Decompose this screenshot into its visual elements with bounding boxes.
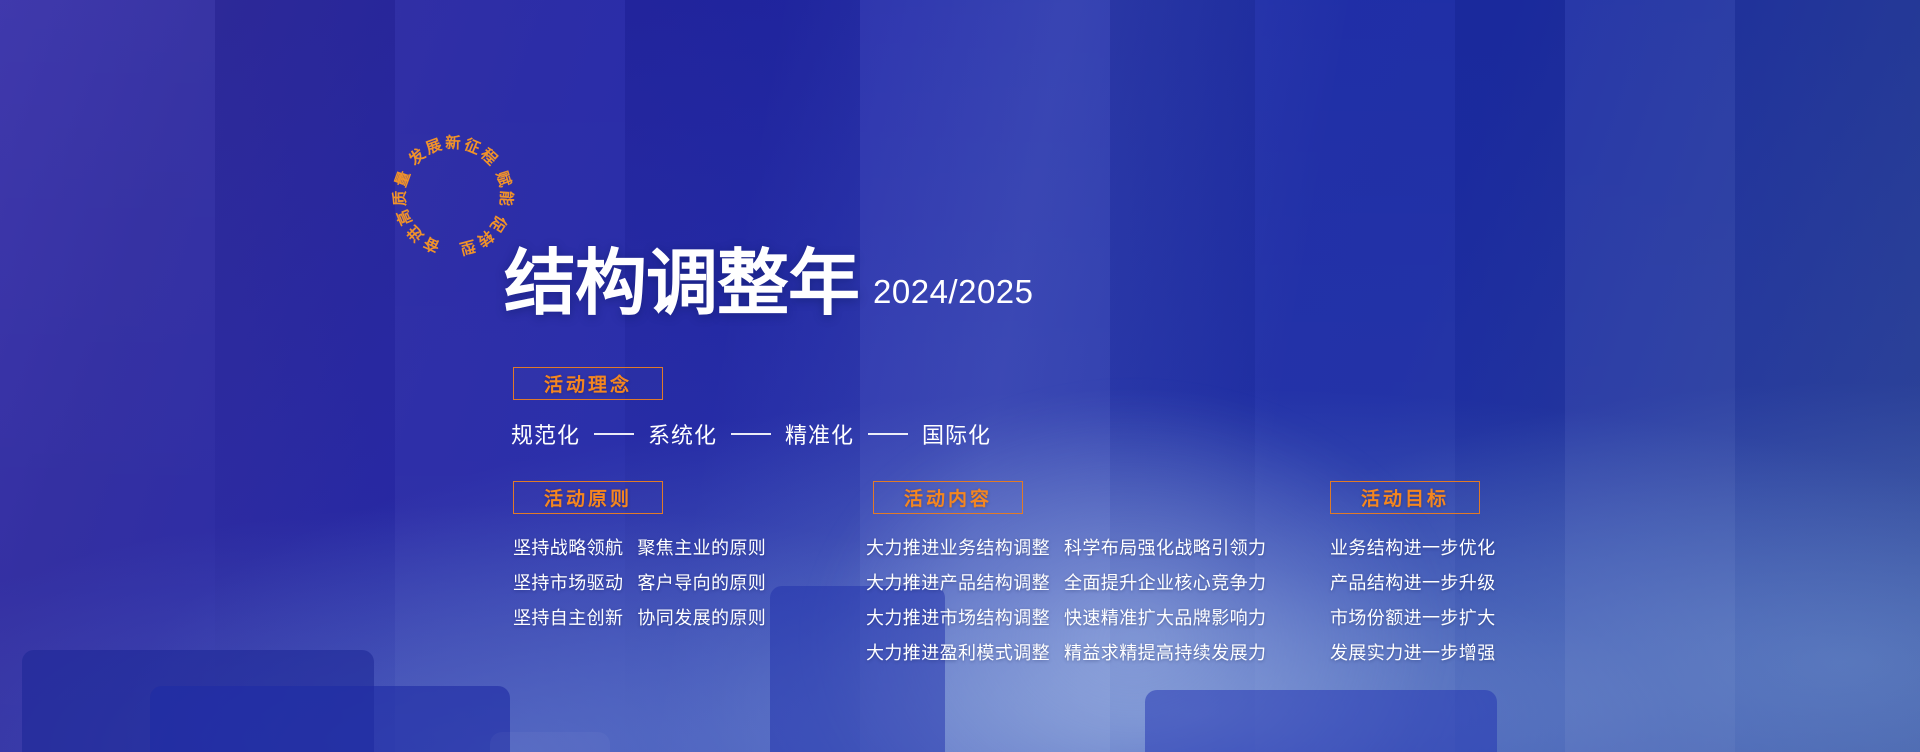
list-item: 产品结构进一步升级 [1330,569,1496,595]
list-item-part-a: 发展实力进一步增强 [1330,639,1496,665]
list-item: 发展实力进一步增强 [1330,639,1496,665]
list-item: 大力推进业务结构调整 科学布局强化战略引领力 [866,534,1266,560]
background-band [1565,0,1735,752]
badge-activity-goal[interactable]: 活动目标 [1330,481,1480,514]
idea-keyword: 规范化 [511,418,580,450]
list-item: 坚持市场驱动 客户导向的原则 [513,569,766,595]
background-band [0,0,215,752]
badge-activity-idea[interactable]: 活动理念 [513,367,663,400]
list-item-part-a: 产品结构进一步升级 [1330,569,1496,595]
idea-separator-dash [594,433,634,435]
list-item-part-b: 精益求精提高持续发展力 [1064,639,1266,665]
list-item-part-b: 聚焦主业的原则 [637,534,766,560]
page-title: 结构调整年 [504,247,859,319]
list-item-part-a: 大力推进盈利模式调整 [866,639,1050,665]
list-item-part-a: 坚持自主创新 [513,604,623,630]
idea-keyword: 系统化 [648,418,717,450]
title-block: 结构调整年 2024/2025 [504,247,1034,319]
background-band [1735,0,1920,752]
idea-separator-dash [731,433,771,435]
badge-activity-principle[interactable]: 活动原则 [513,481,663,514]
list-item: 大力推进市场结构调整 快速精准扩大品牌影响力 [866,604,1266,630]
list-item-part-a: 大力推进产品结构调整 [866,569,1050,595]
column-content: 大力推进业务结构调整 科学布局强化战略引领力 大力推进产品结构调整 全面提升企业… [866,534,1266,674]
circular-slogan-ring: 奋进高质量 发展新征程 赋能 促转型 增动能 [400,143,506,249]
list-item-part-a: 市场份额进一步扩大 [1330,604,1496,630]
building-block [150,686,510,752]
list-item: 坚持自主创新 协同发展的原则 [513,604,766,630]
badge-activity-content[interactable]: 活动内容 [873,481,1023,514]
column-principle: 坚持战略领航 聚焦主业的原则 坚持市场驱动 客户导向的原则 坚持自主创新 协同发… [513,534,766,639]
building-block [490,732,610,752]
building-block [1145,690,1497,752]
center-glow [691,301,1574,752]
list-item-part-b: 协同发展的原则 [637,604,766,630]
list-item-part-b: 客户导向的原则 [637,569,766,595]
column-goal: 业务结构进一步优化 产品结构进一步升级 市场份额进一步扩大 发展实力进一步增强 [1330,534,1496,674]
list-item-part-b: 快速精准扩大品牌影响力 [1064,604,1266,630]
list-item-part-a: 业务结构进一步优化 [1330,534,1496,560]
list-item-part-a: 大力推进市场结构调整 [866,604,1050,630]
list-item-part-b: 全面提升企业核心竞争力 [1064,569,1266,595]
idea-separator-dash [868,433,908,435]
list-item: 坚持战略领航 聚焦主业的原则 [513,534,766,560]
list-item: 大力推进产品结构调整 全面提升企业核心竞争力 [866,569,1266,595]
idea-keyword: 国际化 [922,418,991,450]
promo-banner: 奋进高质量 发展新征程 赋能 促转型 增动能 结构调整年 2024/2025 活… [0,0,1920,752]
year-range: 2024/2025 [873,273,1034,319]
list-item-part-a: 坚持市场驱动 [513,569,623,595]
list-item: 业务结构进一步优化 [1330,534,1496,560]
idea-keyword-line: 规范化 系统化 精准化 国际化 [511,418,991,450]
building-block [22,650,374,752]
list-item: 市场份额进一步扩大 [1330,604,1496,630]
list-item-part-a: 坚持战略领航 [513,534,623,560]
list-item-part-b: 科学布局强化战略引领力 [1064,534,1266,560]
idea-keyword: 精准化 [785,418,854,450]
list-item: 大力推进盈利模式调整 精益求精提高持续发展力 [866,639,1266,665]
circular-slogan-text: 奋进高质量 发展新征程 赋能 促转型 增动能 [390,128,517,258]
background-band [215,0,395,752]
list-item-part-a: 大力推进业务结构调整 [866,534,1050,560]
